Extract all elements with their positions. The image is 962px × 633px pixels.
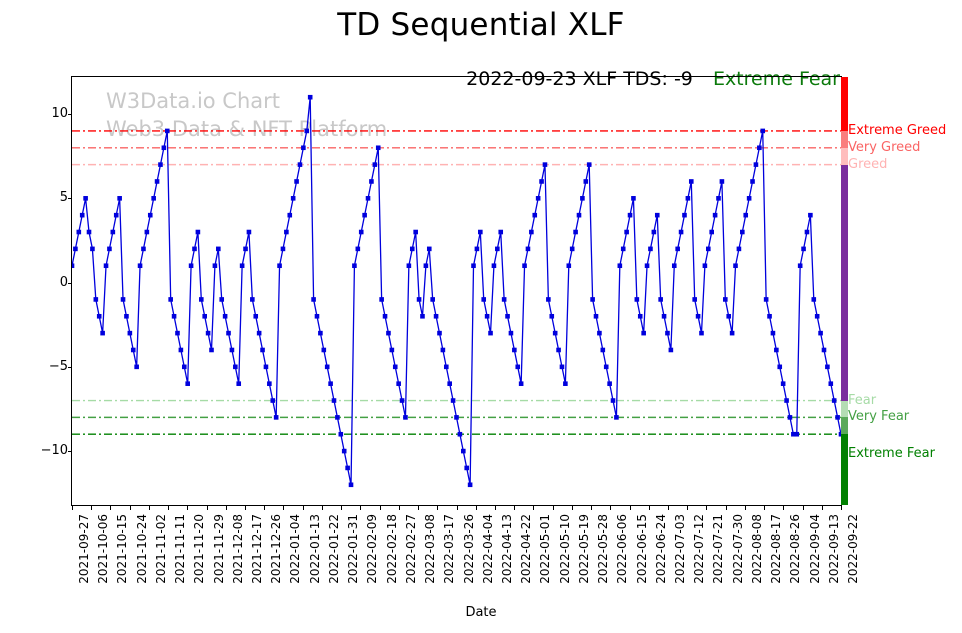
colorbar-segment: [841, 131, 848, 148]
x-tick-mark: [322, 506, 323, 510]
data-point: [495, 247, 500, 252]
data-point: [774, 348, 779, 353]
data-point: [131, 348, 136, 353]
x-tick-mark: [72, 506, 73, 510]
data-point: [784, 398, 789, 403]
data-point: [318, 331, 323, 336]
data-point: [284, 230, 289, 235]
data-point: [682, 213, 687, 218]
data-point: [287, 213, 292, 218]
colorbar-segment: [841, 434, 848, 505]
data-point: [737, 247, 742, 252]
data-point: [202, 314, 207, 319]
x-tick-mark: [149, 506, 150, 510]
data-point: [345, 466, 350, 471]
data-point: [430, 297, 435, 302]
x-tick-label: 2021-11-02: [154, 514, 168, 584]
data-point: [777, 365, 782, 370]
x-tick-label: 2022-05-10: [558, 514, 572, 584]
data-point: [645, 263, 650, 268]
data-point: [352, 263, 357, 268]
data-point: [196, 230, 201, 235]
y-tick-label: 5: [26, 190, 68, 205]
x-tick-mark: [457, 506, 458, 510]
x-axis-ticks: 2021-09-272021-10-062021-10-152021-10-24…: [71, 506, 842, 606]
x-tick-mark: [706, 506, 707, 510]
data-point: [566, 263, 571, 268]
x-tick-mark: [822, 506, 823, 510]
x-tick-label: 2022-01-31: [346, 514, 360, 584]
data-point: [648, 247, 653, 252]
data-point: [723, 297, 728, 302]
data-point: [665, 331, 670, 336]
data-point: [716, 196, 721, 201]
plot-area: W3Data.io Chart Web3 Data & NFT Platform: [71, 76, 842, 506]
x-tick-label: 2022-03-26: [462, 514, 476, 584]
x-tick-label: 2022-07-12: [692, 514, 706, 584]
data-point: [699, 331, 704, 336]
data-point: [379, 297, 384, 302]
data-point: [145, 230, 150, 235]
data-point: [111, 230, 116, 235]
data-point: [492, 263, 497, 268]
x-tick-label: 2022-03-17: [442, 514, 456, 584]
data-point: [696, 314, 701, 319]
data-point: [267, 381, 272, 386]
x-tick-label: 2022-05-19: [577, 514, 591, 584]
data-point: [247, 230, 252, 235]
data-point: [434, 314, 439, 319]
data-point: [794, 432, 799, 437]
data-point: [128, 331, 133, 336]
data-point: [141, 247, 146, 252]
x-tick-label: 2021-12-26: [269, 514, 283, 584]
x-tick-label: 2022-08-17: [769, 514, 783, 584]
x-tick-label: 2021-09-27: [77, 514, 91, 584]
colorbar-segment: [841, 77, 848, 131]
data-point: [366, 196, 371, 201]
data-point: [515, 365, 520, 370]
x-tick-mark: [803, 506, 804, 510]
data-point: [72, 263, 74, 268]
data-point: [162, 145, 167, 150]
data-point: [373, 162, 378, 167]
data-point: [590, 297, 595, 302]
data-point: [638, 314, 643, 319]
data-point: [277, 263, 282, 268]
data-point: [743, 213, 748, 218]
x-tick-mark: [610, 506, 611, 510]
data-point: [253, 314, 258, 319]
data-point: [505, 314, 510, 319]
data-point: [720, 179, 725, 184]
data-point: [805, 230, 810, 235]
x-tick-label: 2021-11-20: [192, 514, 206, 584]
data-point: [754, 162, 759, 167]
data-point: [713, 213, 718, 218]
zone-label: Fear: [848, 393, 876, 408]
x-tick-mark: [110, 506, 111, 510]
data-point: [788, 415, 793, 420]
data-point: [611, 398, 616, 403]
data-point: [461, 449, 466, 454]
data-point: [270, 398, 275, 403]
x-tick-mark: [399, 506, 400, 510]
x-tick-label: 2022-03-08: [423, 514, 437, 584]
data-point: [168, 297, 173, 302]
data-point: [400, 398, 405, 403]
y-tick-label: 0: [26, 275, 68, 290]
data-point: [393, 365, 398, 370]
x-tick-label: 2021-11-29: [212, 514, 226, 584]
data-point: [526, 247, 531, 252]
data-point: [468, 482, 473, 487]
data-point: [226, 331, 231, 336]
data-point: [124, 314, 129, 319]
data-point: [114, 213, 119, 218]
x-tick-mark: [245, 506, 246, 510]
data-point: [209, 348, 214, 353]
data-point: [311, 297, 316, 302]
data-point: [652, 230, 657, 235]
data-point: [158, 162, 163, 167]
data-point: [811, 297, 816, 302]
chart-figure: TD Sequential XLF 2022-09-23 XLF TDS: -9…: [0, 0, 962, 633]
data-point: [485, 314, 490, 319]
x-tick-mark: [495, 506, 496, 510]
x-tick-label: 2022-07-21: [711, 514, 725, 584]
data-point: [264, 365, 269, 370]
x-tick-mark: [726, 506, 727, 510]
data-point: [767, 314, 772, 319]
x-tick-label: 2022-04-22: [519, 514, 533, 584]
data-point: [359, 230, 364, 235]
data-point: [240, 263, 245, 268]
x-tick-mark: [303, 506, 304, 510]
data-point: [560, 365, 565, 370]
data-point: [407, 263, 412, 268]
data-point: [199, 297, 204, 302]
series-line: [72, 97, 841, 485]
x-tick-mark: [514, 506, 515, 510]
data-point: [308, 95, 313, 100]
x-tick-mark: [341, 506, 342, 510]
sentiment-colorbar: [841, 76, 848, 506]
data-point: [607, 381, 612, 386]
data-point: [549, 314, 554, 319]
data-point: [427, 247, 432, 252]
x-tick-mark: [764, 506, 765, 510]
data-point: [818, 331, 823, 336]
x-tick-mark: [591, 506, 592, 510]
data-point: [369, 179, 374, 184]
x-tick-mark: [476, 506, 477, 510]
data-point: [97, 314, 102, 319]
data-point: [509, 331, 514, 336]
data-point: [454, 415, 459, 420]
data-point: [832, 398, 837, 403]
data-point: [80, 213, 85, 218]
data-point: [260, 348, 265, 353]
data-point: [675, 247, 680, 252]
data-point: [77, 230, 82, 235]
data-point: [243, 247, 248, 252]
data-point: [621, 247, 626, 252]
data-point: [447, 381, 452, 386]
x-tick-label: 2022-06-24: [654, 514, 668, 584]
data-point: [822, 348, 827, 353]
x-tick-label: 2022-09-04: [808, 514, 822, 584]
data-point: [179, 348, 184, 353]
x-tick-mark: [418, 506, 419, 510]
data-point: [628, 213, 633, 218]
data-point: [481, 297, 486, 302]
x-tick-label: 2021-11-11: [173, 514, 187, 584]
data-point: [94, 297, 99, 302]
x-tick-mark: [380, 506, 381, 510]
zone-label: Extreme Fear: [848, 446, 935, 461]
data-point: [155, 179, 160, 184]
data-point: [471, 263, 476, 268]
x-tick-mark: [668, 506, 669, 510]
data-point: [573, 230, 578, 235]
data-point: [760, 129, 765, 134]
data-point: [658, 297, 663, 302]
data-point: [764, 297, 769, 302]
data-point: [488, 331, 493, 336]
x-tick-label: 2022-08-26: [788, 514, 802, 584]
x-tick-mark: [533, 506, 534, 510]
data-point: [475, 247, 480, 252]
x-tick-label: 2022-02-27: [404, 514, 418, 584]
series-canvas: [72, 77, 841, 505]
x-tick-mark: [841, 506, 842, 510]
x-tick-label: 2021-10-24: [135, 514, 149, 584]
x-tick-mark: [783, 506, 784, 510]
data-point: [747, 196, 752, 201]
data-point: [396, 381, 401, 386]
y-axis-ticks: 1050−5−10: [20, 76, 68, 506]
data-point: [536, 196, 541, 201]
data-point: [138, 263, 143, 268]
data-point: [104, 263, 109, 268]
data-point: [750, 179, 755, 184]
data-point: [90, 247, 95, 252]
data-point: [546, 297, 551, 302]
data-point: [686, 196, 691, 201]
x-tick-label: 2021-10-06: [96, 514, 110, 584]
zone-label: Very Greed: [848, 140, 920, 155]
data-point: [424, 263, 429, 268]
data-point: [553, 331, 558, 336]
data-point: [403, 415, 408, 420]
data-point: [539, 179, 544, 184]
data-point: [298, 162, 303, 167]
data-point: [815, 314, 820, 319]
data-point: [83, 196, 88, 201]
data-point: [165, 129, 170, 134]
x-tick-label: 2022-07-03: [673, 514, 687, 584]
data-point: [281, 247, 286, 252]
data-point: [328, 381, 333, 386]
x-tick-label: 2022-01-22: [327, 514, 341, 584]
data-point: [529, 230, 534, 235]
data-point: [692, 297, 697, 302]
x-tick-mark: [91, 506, 92, 510]
data-point: [594, 314, 599, 319]
data-point: [121, 297, 126, 302]
data-point: [631, 196, 636, 201]
x-tick-mark: [360, 506, 361, 510]
data-point: [349, 482, 354, 487]
x-tick-label: 2022-01-13: [308, 514, 322, 584]
data-point: [362, 213, 367, 218]
x-tick-label: 2022-02-18: [385, 514, 399, 584]
data-point: [781, 381, 786, 386]
x-tick-mark: [687, 506, 688, 510]
data-point: [825, 365, 830, 370]
data-point: [223, 314, 228, 319]
data-point: [703, 263, 708, 268]
x-tick-mark: [283, 506, 284, 510]
data-point: [342, 449, 347, 454]
data-point: [73, 247, 78, 252]
data-point: [189, 263, 194, 268]
data-point: [709, 230, 714, 235]
data-point: [502, 297, 507, 302]
data-point: [798, 263, 803, 268]
data-point: [117, 196, 122, 201]
data-point: [206, 331, 211, 336]
data-point: [148, 213, 153, 218]
data-point: [175, 331, 180, 336]
x-tick-mark: [553, 506, 554, 510]
data-point: [512, 348, 517, 353]
colorbar-segment: [841, 401, 848, 418]
data-point: [291, 196, 296, 201]
data-point: [522, 263, 527, 268]
data-point: [740, 230, 745, 235]
data-point: [332, 398, 337, 403]
data-point: [828, 381, 833, 386]
data-point: [669, 348, 674, 353]
data-point: [87, 230, 92, 235]
data-point: [413, 230, 418, 235]
x-tick-mark: [649, 506, 650, 510]
data-point: [376, 145, 381, 150]
data-point: [216, 247, 221, 252]
x-tick-mark: [264, 506, 265, 510]
y-tick-label: −5: [26, 359, 68, 374]
data-point: [635, 297, 640, 302]
data-point: [390, 348, 395, 353]
data-point: [726, 314, 731, 319]
data-point: [624, 230, 629, 235]
data-point: [641, 331, 646, 336]
data-point: [257, 331, 262, 336]
x-tick-mark: [572, 506, 573, 510]
x-tick-label: 2022-05-28: [596, 514, 610, 584]
x-tick-mark: [437, 506, 438, 510]
x-tick-mark: [168, 506, 169, 510]
data-point: [182, 365, 187, 370]
data-point: [706, 247, 711, 252]
data-point: [250, 297, 255, 302]
data-point: [410, 247, 415, 252]
x-tick-mark: [226, 506, 227, 510]
data-point: [498, 230, 503, 235]
data-point: [356, 247, 361, 252]
x-tick-label: 2022-06-06: [615, 514, 629, 584]
x-tick-mark: [745, 506, 746, 510]
data-point: [556, 348, 561, 353]
data-point: [808, 213, 813, 218]
data-point: [835, 415, 840, 420]
x-tick-mark: [130, 506, 131, 510]
data-point: [458, 432, 463, 437]
data-point: [563, 381, 568, 386]
data-point: [655, 213, 660, 218]
data-point: [478, 230, 483, 235]
data-point: [587, 162, 592, 167]
data-point: [444, 365, 449, 370]
data-point: [315, 314, 320, 319]
data-point: [386, 331, 391, 336]
data-point: [771, 331, 776, 336]
data-point: [614, 415, 619, 420]
data-point: [689, 179, 694, 184]
data-point: [192, 247, 197, 252]
data-point: [577, 213, 582, 218]
data-point: [584, 179, 589, 184]
colorbar-segment: [841, 417, 848, 434]
x-tick-mark: [207, 506, 208, 510]
x-tick-mark: [630, 506, 631, 510]
data-point: [601, 348, 606, 353]
data-point: [420, 314, 425, 319]
data-point: [213, 263, 218, 268]
x-tick-label: 2021-10-15: [115, 514, 129, 584]
y-tick-label: 10: [26, 106, 68, 121]
data-point: [335, 415, 340, 420]
data-point: [301, 145, 306, 150]
x-tick-label: 2022-01-04: [288, 514, 302, 584]
x-tick-label: 2022-04-04: [481, 514, 495, 584]
x-tick-label: 2022-04-13: [500, 514, 514, 584]
data-point: [151, 196, 156, 201]
data-point: [730, 331, 735, 336]
x-tick-label: 2022-07-30: [731, 514, 745, 584]
data-point: [597, 331, 602, 336]
data-point: [451, 398, 456, 403]
x-tick-label: 2022-09-22: [846, 514, 860, 584]
data-point: [519, 381, 524, 386]
zone-label: Greed: [848, 157, 887, 172]
data-point: [339, 432, 344, 437]
data-point: [570, 247, 575, 252]
data-point: [417, 297, 422, 302]
data-point: [441, 348, 446, 353]
x-tick-label: 2022-08-08: [750, 514, 764, 584]
data-point: [274, 415, 279, 420]
x-tick-label: 2021-12-17: [250, 514, 264, 584]
data-point: [733, 263, 738, 268]
data-point: [185, 381, 190, 386]
data-point: [304, 129, 309, 134]
x-tick-label: 2022-06-15: [635, 514, 649, 584]
data-point: [236, 381, 241, 386]
data-point: [383, 314, 388, 319]
